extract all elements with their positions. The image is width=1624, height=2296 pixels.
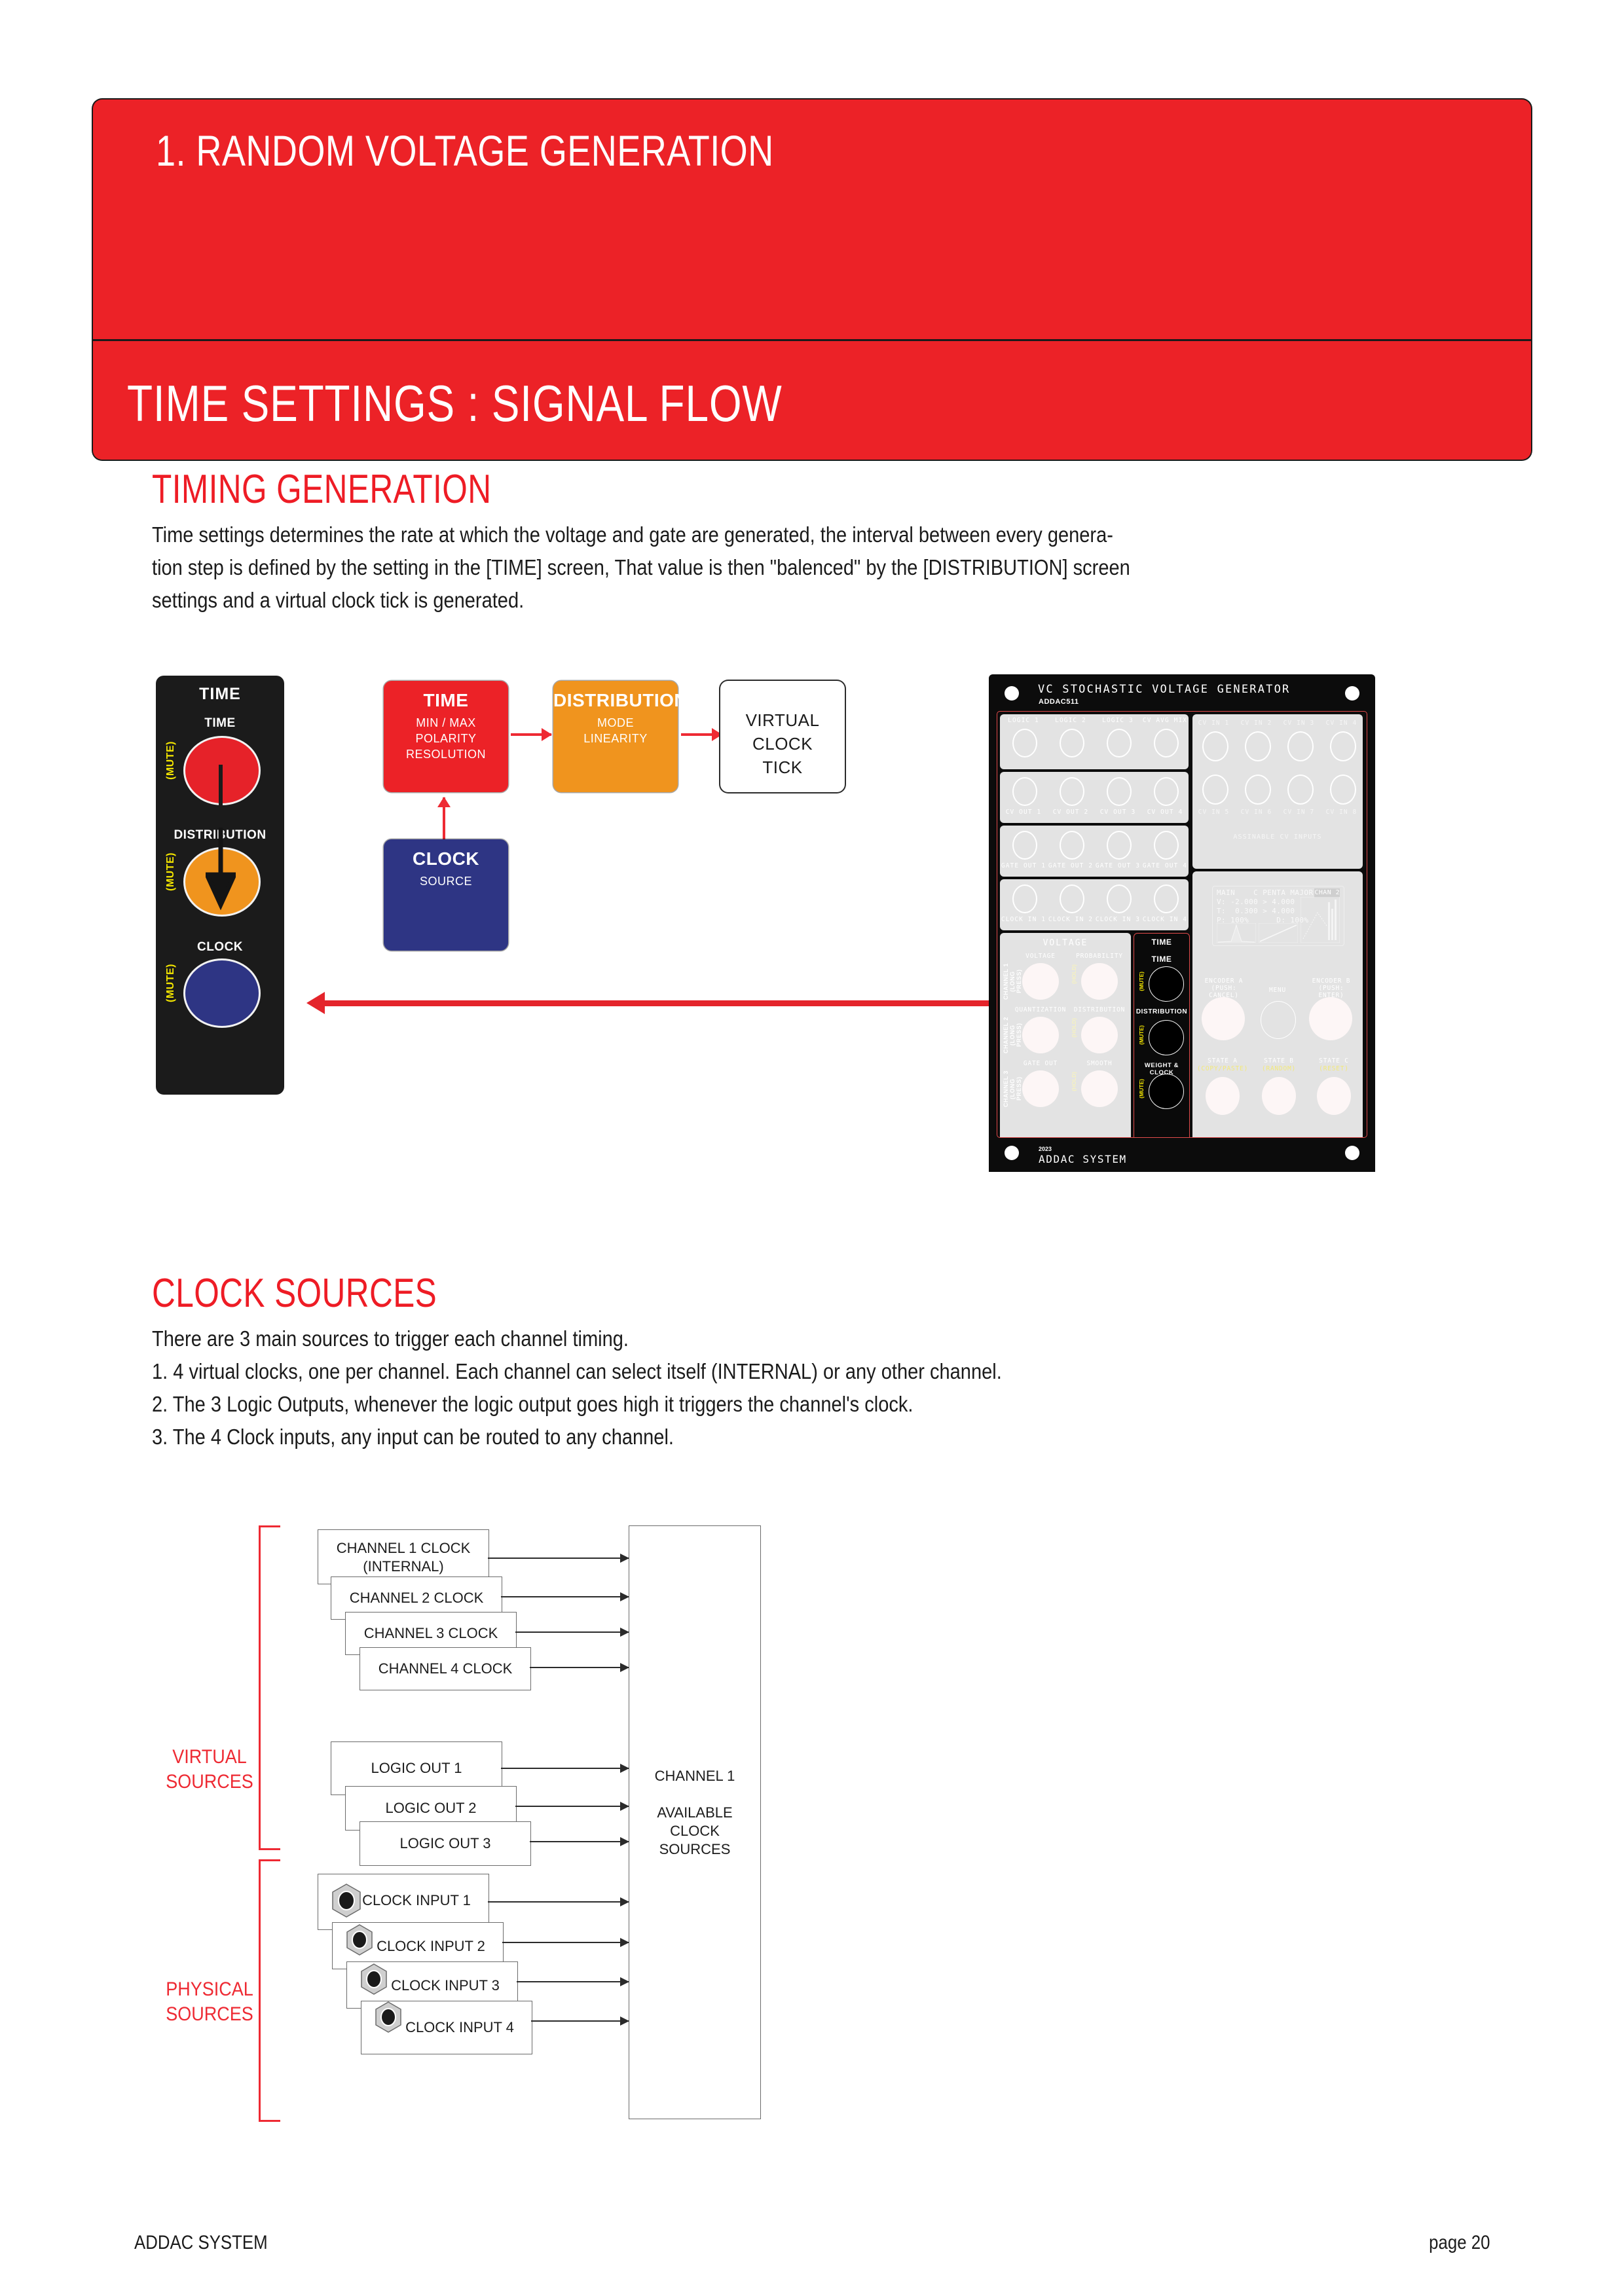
jack-gate-out-4[interactable] <box>1154 831 1179 860</box>
jack-cv-in-3[interactable] <box>1287 731 1314 761</box>
flow-box-time-title: TIME <box>384 690 508 711</box>
jack-label-gate-out-2: GATE OUT 2 <box>1047 862 1094 869</box>
flow-box-distribution-sub: MODE LINEARITY <box>553 715 678 746</box>
flow-box-time: TIME MIN / MAX POLARITY RESOLUTION <box>384 681 508 792</box>
flow-box-distribution-title: DISTRIBUTION <box>553 690 678 711</box>
time-knob-time[interactable] <box>1149 966 1184 1002</box>
arrow-clock-input-4 <box>531 2020 629 2022</box>
knob-gate-out[interactable] <box>1022 1070 1059 1107</box>
jack-label-logic-2: LOGIC 2 <box>1047 717 1094 724</box>
lcd-text: MAIN C PENTA MAJOR V: -2.000 > 4.000 T: … <box>1217 888 1313 925</box>
document-page: 1. RANDOM VOLTAGE GENERATION ADDAC511 Us… <box>0 0 1624 2296</box>
strip-label-time: TIME <box>156 716 284 731</box>
time-mute-label-weight-clock: (MUTE) <box>1138 1079 1145 1099</box>
state-a-label: STATE A <box>1195 1057 1250 1065</box>
knob-distribution-voltage[interactable] <box>1081 1017 1118 1053</box>
jack-label-cv-out-1: CV OUT 1 <box>1000 809 1047 816</box>
jack-logic-2[interactable] <box>1060 729 1084 757</box>
clock-sources-heading: CLOCK SOURCES <box>152 1270 437 1317</box>
module-brand: ADDAC SYSTEM <box>1039 1153 1127 1165</box>
knob-voltage[interactable] <box>1022 963 1059 1000</box>
flow-box-virtual-clock-tick: VIRTUAL CLOCK TICK <box>720 681 845 792</box>
clock-input-4-label: CLOCK INPUT 4 <box>388 2018 532 2037</box>
state-c-action: (RESET) <box>1306 1065 1361 1072</box>
menu-button[interactable] <box>1261 1001 1296 1039</box>
section-title-band: TIME SETTINGS : SIGNAL FLOW <box>93 341 1531 460</box>
timing-generation-heading: TIMING GENERATION <box>152 466 491 513</box>
clock-input-1-jack-icon <box>331 1883 362 1918</box>
mount-screw-top-right <box>1345 686 1359 701</box>
module-year: 2023 <box>1039 1146 1052 1152</box>
virtual-sources-label: VIRTUAL SOURCES <box>136 1745 284 1795</box>
mute-label-distribution: (MUTE) <box>165 852 177 891</box>
timing-generation-paragraph: Time settings determines the rate at whi… <box>152 519 1420 617</box>
jack-label-cv-in-2: CV IN 2 <box>1235 720 1278 727</box>
flow-box-clock-title: CLOCK <box>384 848 508 869</box>
knob-label-probability: PROBABILITY <box>1073 953 1126 960</box>
lcd-scope-icon <box>1301 897 1340 943</box>
jack-logic-1[interactable] <box>1012 729 1037 757</box>
jack-cv-in-2[interactable] <box>1245 731 1271 761</box>
state-a-button[interactable] <box>1206 1077 1240 1115</box>
arrow-logic-1 <box>501 1768 629 1769</box>
state-a-action: (COPY/PASTE) <box>1195 1065 1250 1072</box>
jack-label-cv-in-8: CV IN 8 <box>1320 809 1363 816</box>
clock-input-3-jack-icon <box>360 1963 388 1995</box>
available-clock-sources-label: CHANNEL 1 AVAILABLE CLOCK SOURCES <box>629 1767 760 1859</box>
footer-page-number: page 20 <box>1429 2232 1490 2254</box>
voltage-panel: VOLTAGE VOLTAGE PROBABILITY QUANTIZATION… <box>1000 933 1131 1138</box>
arrow-clock-input-3 <box>517 1981 629 1982</box>
jack-clock-in-2[interactable] <box>1060 884 1084 913</box>
lcd-linearity-icon <box>1259 923 1298 943</box>
clock-input-1-label: CLOCK INPUT 1 <box>344 1891 489 1910</box>
logic-jacks-panel: LOGIC 1 LOGIC 2 LOGIC 3 CV AVG MIX <box>1000 714 1189 769</box>
jack-cv-out-2[interactable] <box>1060 777 1084 806</box>
logic-out-3-label: LOGIC OUT 3 <box>360 1834 530 1853</box>
flow-box-clock-sub: SOURCE <box>384 873 508 889</box>
module-callout-arrow <box>323 1000 1012 1006</box>
knob-smooth[interactable] <box>1081 1070 1118 1107</box>
strip-label-clock: CLOCK <box>156 940 284 955</box>
clock-input-3-label: CLOCK INPUT 3 <box>373 1977 517 1995</box>
time-mute-label-time: (MUTE) <box>1138 972 1145 991</box>
jack-label-cv-in-3: CV IN 3 <box>1278 720 1320 727</box>
knob-label-voltage: VOLTAGE <box>1014 953 1067 960</box>
jack-clock-in-3[interactable] <box>1107 884 1132 913</box>
jack-label-clock-in-1: CLOCK IN 1 <box>1000 916 1047 923</box>
time-knob-label-time: TIME <box>1134 955 1189 964</box>
hold-label-2: (HOLD) <box>1071 1018 1077 1038</box>
state-c-button[interactable] <box>1317 1077 1351 1115</box>
display-and-controls-panel: MAIN C PENTA MAJOR V: -2.000 > 4.000 T: … <box>1192 871 1363 1138</box>
time-mute-label-distribution: (MUTE) <box>1138 1025 1145 1045</box>
jack-gate-out-3[interactable] <box>1107 831 1132 860</box>
jack-cv-in-8[interactable] <box>1330 774 1356 805</box>
knob-probability[interactable] <box>1081 963 1118 1000</box>
down-arrow-icon <box>206 828 236 913</box>
virtual-sources-bracket <box>259 1525 280 1850</box>
jack-label-gate-out-4: GATE OUT 4 <box>1141 862 1189 869</box>
jack-label-clock-in-3: CLOCK IN 3 <box>1094 916 1141 923</box>
clock-sources-paragraph: There are 3 main sources to trigger each… <box>152 1322 1420 1453</box>
flow-box-time-sub: MIN / MAX POLARITY RESOLUTION <box>384 715 508 762</box>
lcd-screen: MAIN C PENTA MAJOR V: -2.000 > 4.000 T: … <box>1212 886 1344 946</box>
cv-out-jacks-panel: CV OUT 1 CV OUT 2 CV OUT 3 CV OUT 4 <box>1000 772 1189 823</box>
jack-label-logic-1: LOGIC 1 <box>1000 717 1047 724</box>
jack-gate-out-2[interactable] <box>1060 831 1084 860</box>
jack-label-cv-in-1: CV IN 1 <box>1192 720 1235 727</box>
clock-in-jacks-panel: CLOCK IN 1 CLOCK IN 2 CLOCK IN 3 CLOCK I… <box>1000 879 1189 930</box>
available-clock-sources-box: CHANNEL 1 AVAILABLE CLOCK SOURCES <box>629 1525 761 2119</box>
jack-cv-out-1[interactable] <box>1012 777 1037 806</box>
mount-screw-bottom-left <box>1005 1146 1019 1160</box>
module-model: ADDAC511 <box>1039 698 1079 706</box>
jack-label-logic-3: LOGIC 3 <box>1094 717 1141 724</box>
channel-2-clock-label: CHANNEL 2 CLOCK <box>331 1589 502 1607</box>
jack-cv-in-7[interactable] <box>1287 774 1314 805</box>
knob-label-distribution: DISTRIBUTION <box>1071 1006 1128 1013</box>
knob-quantization[interactable] <box>1022 1017 1059 1053</box>
footer-brand: ADDAC SYSTEM <box>134 2232 268 2254</box>
logic-out-2-label: LOGIC OUT 2 <box>346 1799 516 1817</box>
encoder-a[interactable] <box>1202 997 1245 1040</box>
arrow-channel-1 <box>488 1558 629 1559</box>
jack-cv-in-6[interactable] <box>1245 774 1271 805</box>
jack-cv-in-5[interactable] <box>1202 774 1228 805</box>
encoder-a-label: ENCODER A (PUSH: CANCEL) <box>1196 977 1251 999</box>
page-header-banner: 1. RANDOM VOLTAGE GENERATION ADDAC511 Us… <box>93 100 1531 460</box>
arrow-channel-3 <box>515 1631 629 1633</box>
jack-cv-in-4[interactable] <box>1330 731 1356 761</box>
jack-cv-avg-mix[interactable] <box>1154 729 1179 757</box>
jack-label-cv-avg-mix: CV AVG MIX <box>1141 717 1189 724</box>
arrow-clock-input-1 <box>488 1901 629 1903</box>
knob-label-gate-out: GATE OUT <box>1014 1060 1067 1067</box>
knob-clock[interactable] <box>183 958 261 1028</box>
flow-box-clock: CLOCK SOURCE <box>384 839 508 951</box>
state-b-button[interactable] <box>1262 1077 1296 1115</box>
time-subpanel: TIME TIME (MUTE) DISTRIBUTION (MUTE) WEI… <box>1134 933 1190 1138</box>
clock-input-4-jack-icon <box>374 2001 403 2033</box>
arrow-channel-2 <box>501 1596 629 1597</box>
hold-label-3: (HOLD) <box>1071 1072 1077 1091</box>
arrow-clock-input-2 <box>502 1942 629 1943</box>
module-footer: 2023 ADDAC SYSTEM <box>989 1138 1375 1172</box>
jack-label-cv-in-6: CV IN 6 <box>1235 809 1278 816</box>
voltage-section-title: VOLTAGE <box>1000 938 1131 948</box>
arrow-channel-4 <box>530 1667 629 1668</box>
jack-clock-in-4[interactable] <box>1154 884 1179 913</box>
mount-screw-top-left <box>1005 686 1019 701</box>
flow-arrow-time-to-distribution <box>511 733 551 736</box>
strip-header-label: TIME <box>156 685 284 704</box>
channel-3-clock-label: CHANNEL 3 CLOCK <box>346 1624 516 1643</box>
time-subpanel-title: TIME <box>1134 938 1189 947</box>
flow-box-virtual-clock-tick-title: VIRTUAL CLOCK TICK <box>720 708 845 779</box>
flow-box-distribution: DISTRIBUTION MODE LINEARITY <box>553 681 678 792</box>
channel-label-1: CHANNEL 1 (LONG PRESS) <box>1003 962 1022 1001</box>
time-knob-weight-clock[interactable] <box>1149 1074 1184 1109</box>
assignable-cv-panel: CV IN 1 CV IN 2 CV IN 3 CV IN 4 CV IN 5 … <box>1192 714 1363 869</box>
time-knob-label-distribution: DISTRIBUTION <box>1134 1008 1189 1015</box>
jack-label-clock-in-4: CLOCK IN 4 <box>1141 916 1189 923</box>
mute-label-time: (MUTE) <box>165 741 177 780</box>
mount-screw-bottom-right <box>1345 1146 1359 1160</box>
jack-label-gate-out-3: GATE OUT 3 <box>1094 862 1141 869</box>
jack-label-cv-in-4: CV IN 4 <box>1320 720 1363 727</box>
gate-out-jacks-panel: GATE OUT 1 GATE OUT 2 GATE OUT 3 GATE OU… <box>1000 826 1189 877</box>
module-body: LOGIC 1 LOGIC 2 LOGIC 3 CV AVG MIX CV OU… <box>997 711 1367 1138</box>
jack-logic-3[interactable] <box>1107 729 1132 757</box>
jack-cv-out-3[interactable] <box>1107 777 1132 806</box>
jack-label-cv-in-5: CV IN 5 <box>1192 809 1235 816</box>
chapter-title: 1. RANDOM VOLTAGE GENERATION <box>156 126 774 175</box>
encoder-b-label: ENCODER B (PUSH: ENTER) <box>1304 977 1359 999</box>
time-knob-distribution[interactable] <box>1149 1020 1184 1055</box>
flow-arrow-distribution-to-tick <box>681 733 722 736</box>
lcd-channel-badge: CHAN 2 <box>1314 888 1340 898</box>
state-c-label: STATE C <box>1306 1057 1361 1065</box>
channel-label-2: CHANNEL 2 (LONG PRESS) <box>1003 1015 1022 1055</box>
assignable-cv-inputs-label: ASSINABLE CV INPUTS <box>1192 833 1363 841</box>
state-b-label: STATE B <box>1251 1057 1306 1065</box>
jack-label-cv-in-7: CV IN 7 <box>1278 809 1320 816</box>
channel-4-clock-box: CHANNEL 4 CLOCK <box>360 1647 531 1690</box>
logic-out-1-label: LOGIC OUT 1 <box>331 1759 502 1777</box>
clock-input-2-label: CLOCK INPUT 2 <box>359 1937 503 1956</box>
time-panel-strip: TIME TIME (MUTE) DISTRIBUTION (MUTE) CLO… <box>156 676 284 1095</box>
arrow-logic-2 <box>515 1806 629 1807</box>
jack-label-cv-out-2: CV OUT 2 <box>1047 809 1094 816</box>
physical-sources-label: PHYSICAL SOURCES <box>136 1977 284 2027</box>
channel-4-clock-label: CHANNEL 4 CLOCK <box>360 1660 530 1678</box>
state-b-action: (RANDOM) <box>1251 1065 1306 1072</box>
encoder-b[interactable] <box>1309 997 1352 1040</box>
logic-out-3-box: LOGIC OUT 3 <box>360 1821 531 1866</box>
channel-label-3: CHANNEL 3 (LONG PRESS) <box>1003 1069 1022 1108</box>
module-name: VC STOCHASTIC VOLTAGE GENERATOR <box>1038 683 1290 696</box>
arrow-logic-3 <box>530 1841 629 1842</box>
module-header: VC STOCHASTIC VOLTAGE GENERATOR ADDAC511 <box>989 674 1375 711</box>
jack-label-clock-in-2: CLOCK IN 2 <box>1047 916 1094 923</box>
clock-input-2-jack-icon <box>345 1923 374 1956</box>
hold-label-1: (HOLD) <box>1071 964 1077 984</box>
channel-1-clock-label: CHANNEL 1 CLOCK (INTERNAL) <box>318 1539 489 1576</box>
jack-clock-in-1[interactable] <box>1012 884 1037 913</box>
jack-cv-out-4[interactable] <box>1154 777 1179 806</box>
jack-cv-in-1[interactable] <box>1202 731 1228 761</box>
knob-label-smooth: SMOOTH <box>1073 1060 1126 1067</box>
knob-label-quantization: QUANTIZATION <box>1012 1006 1069 1013</box>
lcd-histogram-icon <box>1217 923 1256 943</box>
menu-label: MENU <box>1255 987 1300 994</box>
knob-time-pointer <box>219 765 223 812</box>
section-title: TIME SETTINGS : SIGNAL FLOW <box>127 374 783 433</box>
module-faceplate: VC STOCHASTIC VOLTAGE GENERATOR ADDAC511… <box>989 674 1375 1172</box>
jack-label-gate-out-1: GATE OUT 1 <box>1000 862 1047 869</box>
mute-label-clock: (MUTE) <box>165 964 177 1002</box>
jack-gate-out-1[interactable] <box>1012 831 1037 860</box>
jack-label-cv-out-3: CV OUT 3 <box>1094 809 1141 816</box>
jack-label-cv-out-4: CV OUT 4 <box>1141 809 1189 816</box>
